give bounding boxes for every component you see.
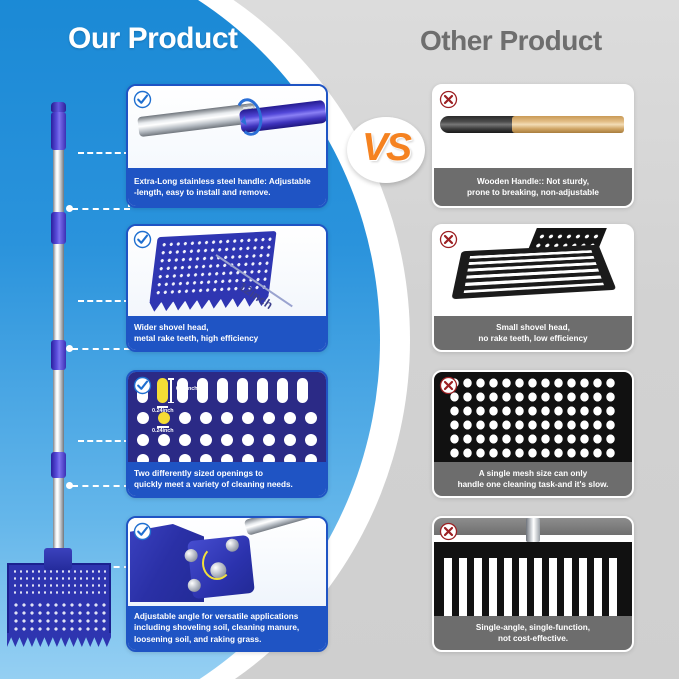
oblong-hole: [237, 378, 248, 403]
wooden-handle-section: [512, 116, 624, 133]
vs-badge: VS: [347, 117, 425, 183]
caption-line: not cost-effective.: [440, 633, 626, 644]
oblong-hole: [197, 378, 208, 403]
shovel-rake-teeth: [7, 633, 111, 647]
oblong-hole: [277, 378, 288, 403]
connector-line-1-h: [78, 152, 130, 154]
fixed-handle-tube: [526, 518, 540, 542]
shovel-coarse-mesh: [12, 601, 110, 635]
caption-line: handle one cleaning task-and it's slow.: [440, 479, 626, 490]
scoop-slot-openings: [464, 250, 604, 293]
right-feature-card-2: Small shovel head, no rake teeth, low ef…: [432, 224, 634, 352]
dimension-cap-bottom: [168, 402, 174, 404]
connector-line-3b: [72, 485, 130, 487]
black-mesh-panel: [434, 372, 632, 466]
cross-icon: [439, 90, 458, 109]
check-icon: [133, 376, 152, 395]
caption-line: Wider shovel head,: [134, 322, 320, 333]
connector-line-2-h: [78, 300, 130, 302]
slot-row: [137, 378, 308, 403]
uniform-mesh-holes: [448, 376, 618, 464]
oblong-hole: [297, 378, 308, 403]
left-feature-card-3: 0.79inch 0.24inch 0.24inch Two different…: [126, 370, 328, 498]
right-card-3-media: [434, 372, 632, 466]
rotation-arc-arrow-icon: [202, 546, 232, 580]
round-hole: [158, 434, 170, 446]
shovel-fine-mesh: [12, 568, 110, 598]
right-card-4-caption: Single-angle, single-function, not cost-…: [434, 616, 632, 650]
shovel-head-product: [7, 563, 111, 647]
round-hole-row-2: [137, 434, 317, 446]
left-card-4-media: [128, 518, 326, 610]
rotation-arrow-icon: [232, 96, 265, 139]
left-card-2-media: 12inch: [128, 226, 326, 320]
caption-line: including shoveling soil, cleaning manur…: [134, 622, 320, 633]
right-card-4-media: [434, 518, 632, 620]
shovel-bracket: [44, 548, 72, 570]
cross-icon: [439, 522, 458, 541]
left-card-3-caption: Two differently sized openings to quickl…: [128, 462, 326, 496]
left-card-4-caption: Adjustable angle for versatile applicati…: [128, 606, 326, 650]
left-feature-card-1: Extra-Long stainless steel handle: Adjus…: [126, 84, 328, 208]
left-feature-card-2: 12inch Wider shovel head, metal rake tee…: [126, 224, 328, 352]
round-hole: [263, 412, 275, 424]
shovel-head-body: [7, 563, 111, 636]
caption-line: A single mesh size can only: [440, 468, 626, 479]
page-title-our-product: Our Product: [68, 22, 238, 56]
caption-line: Wooden Handle:: Not sturdy,: [440, 176, 626, 187]
round-hole: [200, 434, 212, 446]
cross-icon: [439, 230, 458, 249]
round-hole: [221, 412, 233, 424]
caption-line: prone to breaking, non-adjustable: [440, 187, 626, 198]
pole-grip-middle: [51, 212, 66, 244]
handle-rod: [244, 518, 326, 536]
caption-line: Single-angle, single-function,: [440, 622, 626, 633]
round-hole: [137, 412, 149, 424]
pole-grip-bottom: [51, 452, 66, 478]
black-panel: [434, 542, 632, 620]
round-hole: [284, 434, 296, 446]
caption-line: -length, easy to install and remove.: [134, 187, 320, 198]
round-hole: [263, 434, 275, 446]
handle-end-cap: [51, 102, 66, 112]
dimension-bar-vertical: [170, 378, 172, 403]
infographic-canvas: Our Product Other Product VS: [0, 0, 679, 679]
hole-diameter-label: 0.24inch: [152, 428, 174, 434]
round-hole: [242, 412, 254, 424]
connector-line-2b: [72, 348, 130, 350]
pole-grip-top: [51, 112, 66, 150]
left-card-3-media: 0.79inch 0.24inch 0.24inch: [128, 372, 326, 466]
caption-line: metal rake teeth, high efficiency: [134, 333, 320, 344]
round-hole: [179, 412, 191, 424]
caption-line: quickly meet a variety of cleaning needs…: [134, 479, 320, 490]
caption-line: Small shovel head,: [440, 322, 626, 333]
right-feature-card-1: Wooden Handle:: Not sturdy, prone to bre…: [432, 84, 634, 208]
dimension-cap-top: [168, 378, 174, 380]
oblong-hole-highlight: [157, 378, 168, 403]
hole-pattern-field: 0.79inch 0.24inch 0.24inch: [128, 372, 326, 466]
round-hole: [242, 434, 254, 446]
right-card-1-media: [434, 86, 632, 172]
right-feature-card-4: Single-angle, single-function, not cost-…: [432, 516, 634, 652]
oblong-hole: [217, 378, 228, 403]
caption-line: Extra-Long stainless steel handle: Adjus…: [134, 176, 320, 187]
left-feature-card-4: Adjustable angle for versatile applicati…: [126, 516, 328, 652]
right-card-1-caption: Wooden Handle:: Not sturdy, prone to bre…: [434, 168, 632, 206]
slot-height-label: 0.79inch: [176, 386, 198, 392]
check-icon: [133, 230, 152, 249]
check-icon: [133, 522, 152, 541]
round-hole: [284, 412, 296, 424]
caption-line: Adjustable angle for versatile applicati…: [134, 611, 320, 622]
round-hole: [305, 434, 317, 446]
caption-line: Two differently sized openings to: [134, 468, 320, 479]
right-card-2-media: [434, 226, 632, 320]
right-feature-card-3: A single mesh size can only handle one c…: [432, 370, 634, 498]
round-hole: [305, 412, 317, 424]
caption-line: no rake teeth, low efficiency: [440, 333, 626, 344]
single-angle-mesh-holes: [444, 558, 622, 620]
slot-width-label: 0.24inch: [152, 408, 174, 414]
telescoping-pole: [53, 105, 64, 560]
caption-line: loosening soil, and raking grass.: [134, 634, 320, 645]
bolt-icon: [187, 578, 201, 592]
round-hole: [179, 434, 191, 446]
connector-line-3-h: [78, 440, 130, 442]
pole-grip-lower: [51, 340, 66, 370]
bolt-icon: [184, 548, 198, 562]
black-handle-section: [440, 116, 520, 133]
right-card-2-caption: Small shovel head, no rake teeth, low ef…: [434, 316, 632, 350]
round-hole: [221, 434, 233, 446]
check-icon: [133, 90, 152, 109]
cross-icon: [439, 376, 458, 395]
round-hole: [137, 434, 149, 446]
small-scoop-photo: [451, 245, 616, 299]
vs-label: VS: [347, 126, 425, 170]
oblong-hole: [257, 378, 268, 403]
left-card-2-caption: Wider shovel head, metal rake teeth, hig…: [128, 316, 326, 350]
left-card-1-media: [128, 86, 326, 172]
left-card-1-caption: Extra-Long stainless steel handle: Adjus…: [128, 168, 326, 206]
right-card-3-caption: A single mesh size can only handle one c…: [434, 462, 632, 496]
page-title-other-product: Other Product: [420, 25, 602, 57]
round-hole: [200, 412, 212, 424]
connector-line-1b: [72, 208, 130, 210]
